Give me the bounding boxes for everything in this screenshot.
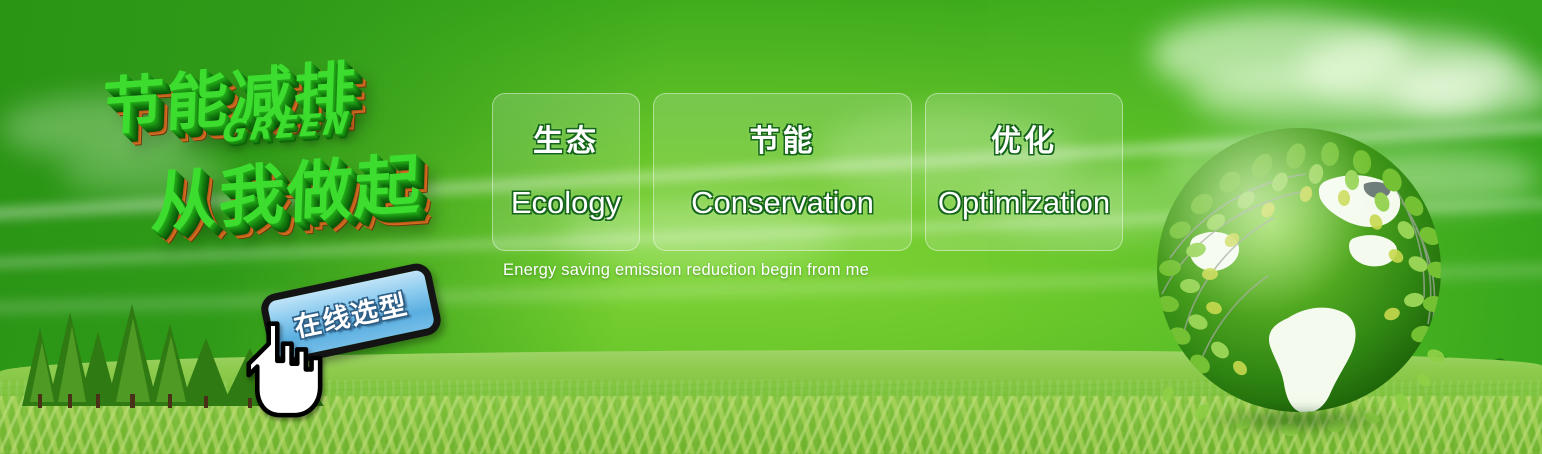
ivy-globe [1140, 118, 1458, 436]
feature-card-en-label: Ecology [511, 187, 621, 218]
feature-card-cn-label: 节能 [750, 127, 816, 157]
feature-card-list: 生态 Ecology 节能 Conservation 优化 Optimizati… [492, 93, 1123, 251]
feature-card-en-label: Conservation [691, 187, 874, 218]
feature-card-conservation[interactable]: 节能 Conservation [653, 93, 912, 251]
logo-line-bottom: 从我做起 [149, 131, 424, 246]
feature-card-optimization[interactable]: 优化 Optimization [925, 93, 1123, 251]
banner-tagline: Energy saving emission reduction begin f… [503, 261, 869, 280]
feature-card-cn-label: 优化 [991, 127, 1057, 157]
online-selection-label: 在线选型 [291, 289, 411, 343]
globe-graphic [1140, 118, 1458, 436]
hero-3d-logo: 节能减排 从我做起 GREEN [88, 21, 493, 278]
feature-card-cn-label: 生态 [533, 127, 599, 157]
feature-card-ecology[interactable]: 生态 Ecology [492, 93, 640, 251]
feature-card-en-label: Optimization [938, 187, 1110, 218]
globe-shadow [1158, 400, 1444, 440]
eco-banner: 节能减排 从我做起 GREEN 在线选型 生态 Ecology 节能 Conse… [0, 0, 1542, 454]
